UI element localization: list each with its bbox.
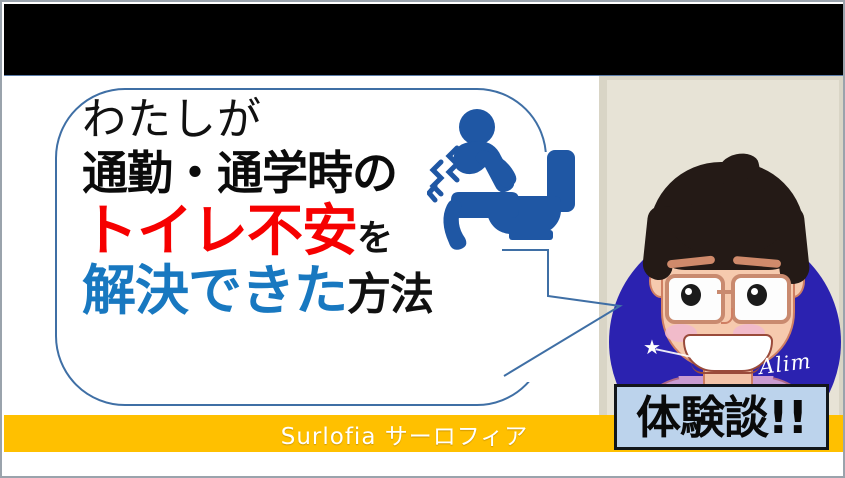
person-on-toilet-icon	[427, 100, 597, 260]
bottom-white-strip	[4, 452, 845, 478]
glasses-bridge	[717, 290, 733, 294]
character-eye-left	[681, 284, 701, 306]
bubble-line-3-highlight: トイレ不安	[82, 199, 357, 264]
experience-badge: 体験談!!	[614, 384, 829, 450]
black-letterbox-bar	[4, 4, 845, 76]
eye-highlight-right	[751, 288, 758, 295]
screenshot-frame: ★ Alim わたしが 通勤・通学時の トイレ不安を 解決できた方法	[0, 0, 845, 478]
experience-badge-label: 体験談!!	[636, 395, 807, 440]
bubble-line-4-highlight: 解決できた	[82, 259, 347, 322]
bubble-line-3-plain: を	[357, 218, 392, 259]
character-lower-lip	[691, 362, 761, 374]
eye-highlight-left	[685, 288, 692, 295]
bubble-line-4-plain: 方法	[347, 269, 433, 320]
brand-name-text: Surlofia サーロフィア	[281, 417, 529, 451]
character-eye-right	[747, 284, 767, 306]
bubble-line-4: 解決できた方法	[82, 264, 542, 318]
